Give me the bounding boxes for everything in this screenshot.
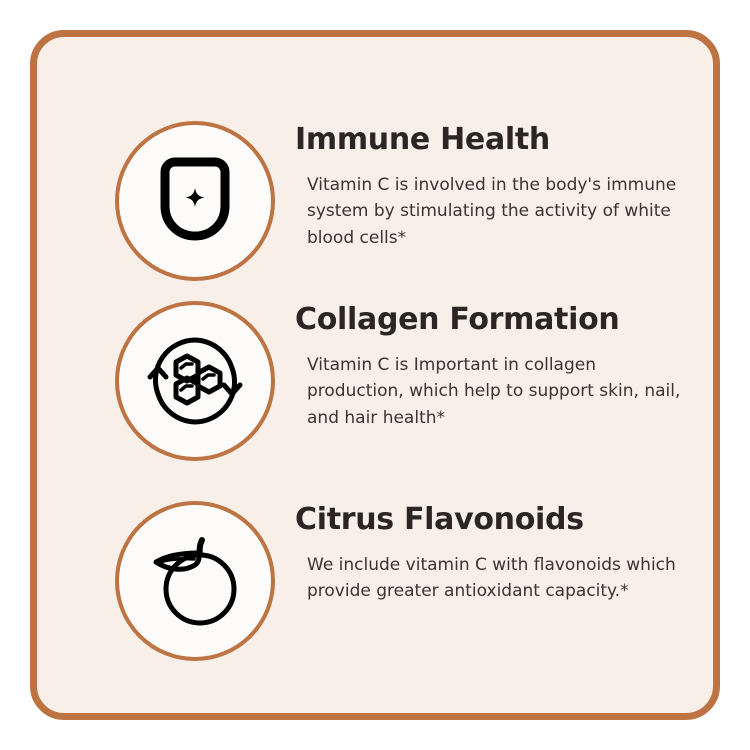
benefit-item-citrus-flavonoids: Citrus Flavonoids We include vitamin C w… [115, 501, 715, 661]
benefit-description: We include vitamin C with flavonoids whi… [295, 536, 697, 605]
benefit-description: Vitamin C is involved in the body's immu… [295, 156, 697, 251]
icon-circle-collagen-formation [115, 301, 275, 461]
icon-circle-citrus-flavonoids [115, 501, 275, 661]
hexagon-cycle-icon [136, 322, 254, 440]
benefit-text-collagen-formation: Collagen Formation Vitamin C is Importan… [275, 301, 715, 431]
benefit-title: Citrus Flavonoids [295, 503, 715, 536]
benefit-item-collagen-formation: Collagen Formation Vitamin C is Importan… [115, 301, 715, 461]
benefit-item-immune-health: Immune Health Vitamin C is involved in t… [115, 121, 715, 281]
benefit-text-immune-health: Immune Health Vitamin C is involved in t… [275, 121, 715, 251]
benefit-description: Vitamin C is Important in collagen produ… [295, 336, 697, 431]
benefit-title: Immune Health [295, 123, 715, 156]
shield-plus-icon [152, 154, 238, 248]
benefits-card: Immune Health Vitamin C is involved in t… [30, 30, 720, 720]
icon-circle-immune-health [115, 121, 275, 281]
benefit-title: Collagen Formation [295, 303, 715, 336]
benefit-text-citrus-flavonoids: Citrus Flavonoids We include vitamin C w… [275, 501, 715, 605]
orange-citrus-icon [140, 529, 250, 633]
